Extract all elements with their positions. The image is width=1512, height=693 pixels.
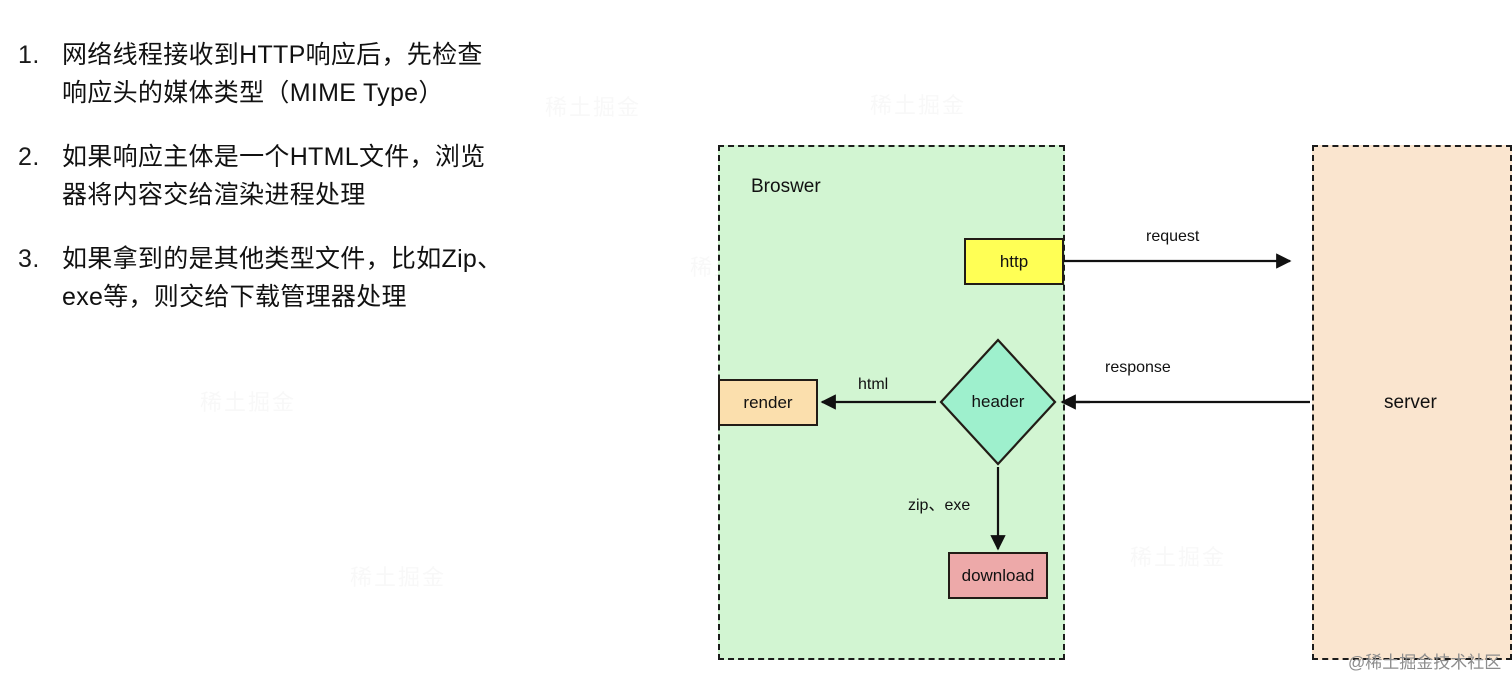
list-item: 3. 如果拿到的是其他类型文件，比如Zip、 exe等，则交给下载管理器处理 — [18, 240, 638, 316]
node-download-label: download — [962, 566, 1035, 586]
node-header-label: header — [938, 337, 1058, 467]
edge-label-zip-exe: zip、exe — [908, 491, 970, 515]
list-item-text: 如果拿到的是其他类型文件，比如Zip、 exe等，则交给下载管理器处理 — [62, 240, 638, 316]
background-watermark: 稀土掘金 — [545, 90, 641, 122]
edge-label-response: response — [1105, 359, 1171, 377]
server-panel-title: server — [1384, 392, 1437, 414]
background-watermark: 稀土掘金 — [870, 88, 966, 120]
steps-list: 1. 网络线程接收到HTTP响应后，先检查 响应头的媒体类型（MIME Type… — [18, 36, 638, 342]
list-item-number: 1. — [18, 36, 62, 74]
node-header-decision[interactable]: header — [938, 337, 1058, 467]
node-http[interactable]: http — [964, 238, 1064, 285]
background-watermark: 稀土掘金 — [350, 560, 446, 592]
list-item-text: 如果响应主体是一个HTML文件，浏览 器将内容交给渲染进程处理 — [62, 138, 638, 214]
list-item-number: 3. — [18, 240, 62, 278]
background-watermark: 稀土掘金 — [200, 385, 296, 417]
edge-label-request: request — [1146, 228, 1199, 246]
node-render-label: render — [743, 393, 792, 413]
node-http-label: http — [1000, 252, 1028, 272]
list-item: 2. 如果响应主体是一个HTML文件，浏览 器将内容交给渲染进程处理 — [18, 138, 638, 214]
brand-watermark: @稀土掘金技术社区 — [1348, 648, 1501, 673]
node-render[interactable]: render — [718, 379, 818, 426]
edge-label-html: html — [858, 376, 888, 394]
background-watermark: 稀土掘金 — [1130, 540, 1226, 572]
list-item-number: 2. — [18, 138, 62, 176]
browser-panel-title: Broswer — [751, 176, 821, 198]
node-download[interactable]: download — [948, 552, 1048, 599]
